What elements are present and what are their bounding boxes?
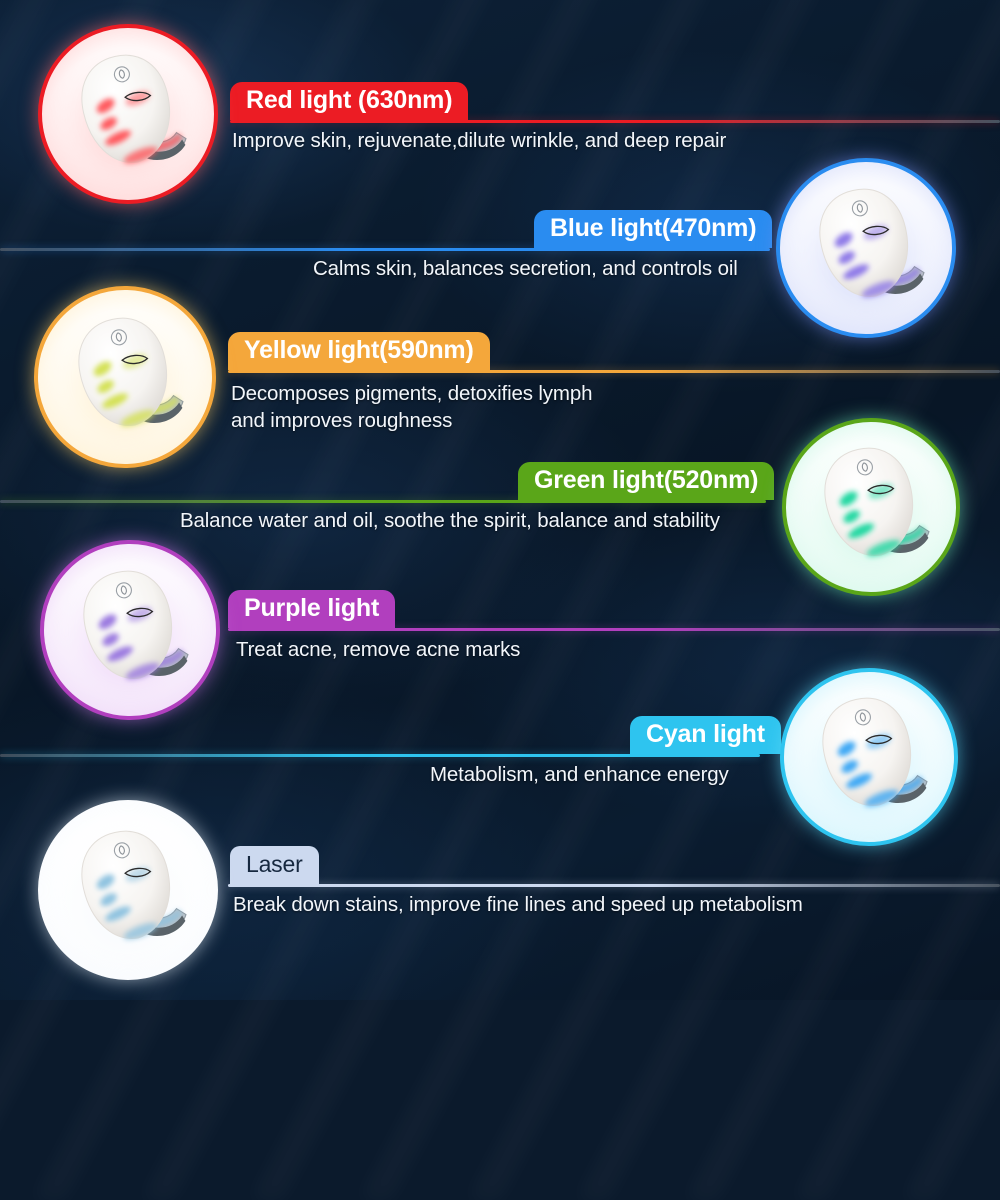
led-face-mask-icon — [791, 173, 941, 323]
light-description-yellow: Decomposes pigments, detoxifies lymph an… — [231, 381, 592, 434]
mask-photo-cyan — [780, 668, 958, 846]
connector-line-cyan — [0, 754, 760, 757]
light-label-laser[interactable]: Laser — [230, 846, 319, 884]
mask-photo-green — [782, 418, 960, 596]
connector-line-yellow — [228, 370, 1000, 373]
connector-line-laser — [228, 884, 1000, 887]
connector-line-green — [0, 500, 766, 503]
light-label-purple[interactable]: Purple light — [228, 590, 395, 628]
connector-line-purple — [228, 628, 1000, 631]
led-face-mask-icon — [50, 302, 200, 452]
light-label-blue[interactable]: Blue light(470nm) — [534, 210, 772, 248]
light-description-purple: Treat acne, remove acne marks — [236, 637, 520, 664]
led-face-mask-icon — [53, 815, 203, 965]
light-label-yellow[interactable]: Yellow light(590nm) — [228, 332, 490, 370]
light-label-red[interactable]: Red light (630nm) — [230, 82, 468, 120]
light-label-cyan[interactable]: Cyan light — [630, 716, 781, 754]
mask-photo-red — [38, 24, 218, 204]
led-face-mask-icon — [794, 682, 944, 832]
mask-photo-blue — [776, 158, 956, 338]
led-face-mask-icon — [55, 555, 205, 705]
mask-photo-yellow — [34, 286, 216, 468]
light-description-green: Balance water and oil, soothe the spirit… — [180, 508, 720, 535]
light-label-green[interactable]: Green light(520nm) — [518, 462, 774, 500]
light-description-cyan: Metabolism, and enhance energy — [430, 762, 729, 789]
connector-line-blue — [0, 248, 770, 251]
light-description-laser: Break down stains, improve fine lines an… — [233, 892, 803, 919]
mask-photo-laser — [38, 800, 218, 980]
led-face-mask-icon — [796, 432, 946, 582]
led-face-mask-icon — [53, 39, 203, 189]
mask-photo-purple — [40, 540, 220, 720]
connector-line-red — [230, 120, 1000, 123]
light-description-blue: Calms skin, balances secretion, and cont… — [313, 256, 738, 283]
light-description-red: Improve skin, rejuvenate,dilute wrinkle,… — [232, 128, 726, 155]
